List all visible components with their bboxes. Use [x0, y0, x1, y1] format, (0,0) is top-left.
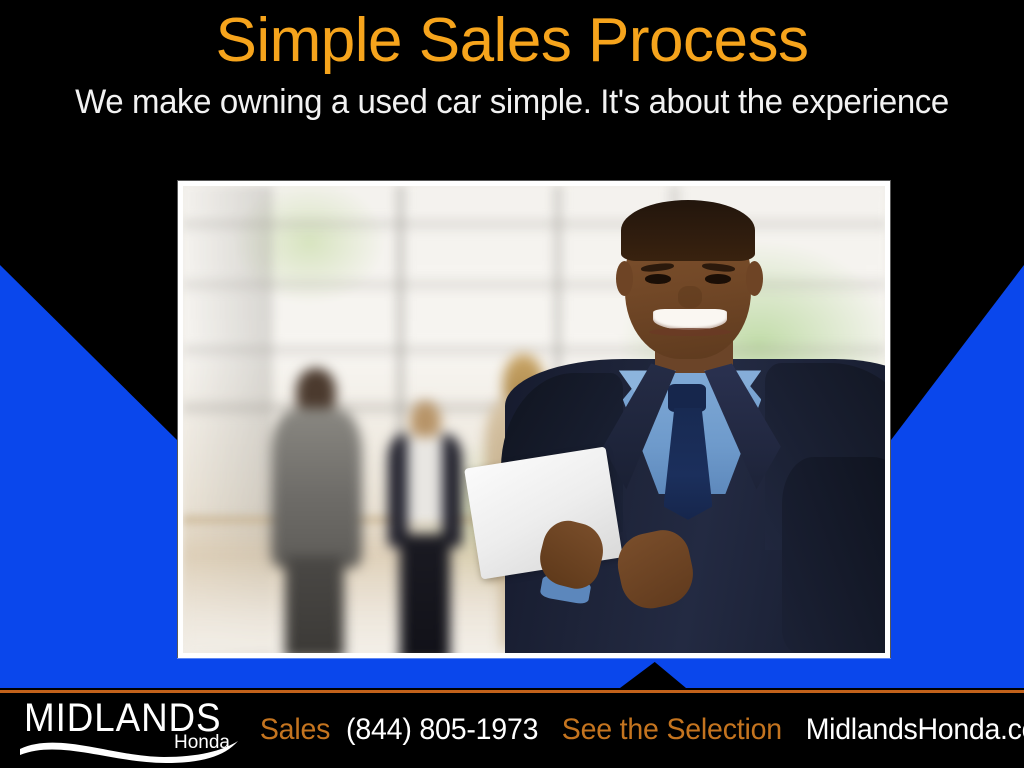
sales-phone[interactable]: Sales (844) 805-1973 — [258, 713, 543, 753]
blue-band-bottom-right — [650, 658, 1024, 688]
header-block: Simple Sales Process We make owning a us… — [0, 0, 1024, 150]
blue-wedge-right — [891, 265, 1024, 688]
blue-wedge-left — [0, 265, 177, 688]
website-url[interactable]: MidlandsHonda.com — [805, 713, 1024, 747]
footer-bar: MIDLANDS Honda Sales (844) 805-1973 See … — [0, 693, 1024, 768]
advertisement-slide: Simple Sales Process We make owning a us… — [0, 0, 1024, 768]
foreground-salesman — [513, 186, 885, 653]
eye-right — [705, 274, 731, 283]
ear-left — [616, 261, 633, 296]
blue-band-bottom-left — [0, 658, 660, 688]
nose — [678, 286, 702, 307]
sleeve-right — [782, 457, 885, 653]
ear-right — [746, 261, 763, 296]
hero-photo — [183, 186, 885, 653]
website-link[interactable]: See the Selection MidlandsHonda.com — [556, 713, 1024, 753]
page-title: Simple Sales Process — [0, 4, 1024, 78]
hero-photo-frame — [178, 181, 890, 658]
sales-label: Sales — [260, 713, 330, 747]
swoosh-icon — [18, 733, 240, 763]
midlands-honda-logo[interactable]: MIDLANDS Honda — [18, 697, 240, 763]
hair — [621, 200, 755, 261]
sales-phone-number[interactable]: (844) 805-1973 — [346, 713, 538, 747]
see-the-selection-label: See the Selection — [562, 713, 782, 747]
background-man-gray-suit — [271, 368, 362, 653]
page-subtitle: We make owning a used car simple. It's a… — [15, 82, 1008, 122]
blue-band-right-fill — [800, 658, 1024, 688]
lower-lip — [649, 328, 730, 336]
eye-left — [645, 274, 671, 283]
background-woman-dark-blazer — [387, 401, 464, 653]
blue-band-left-fill — [0, 658, 270, 688]
